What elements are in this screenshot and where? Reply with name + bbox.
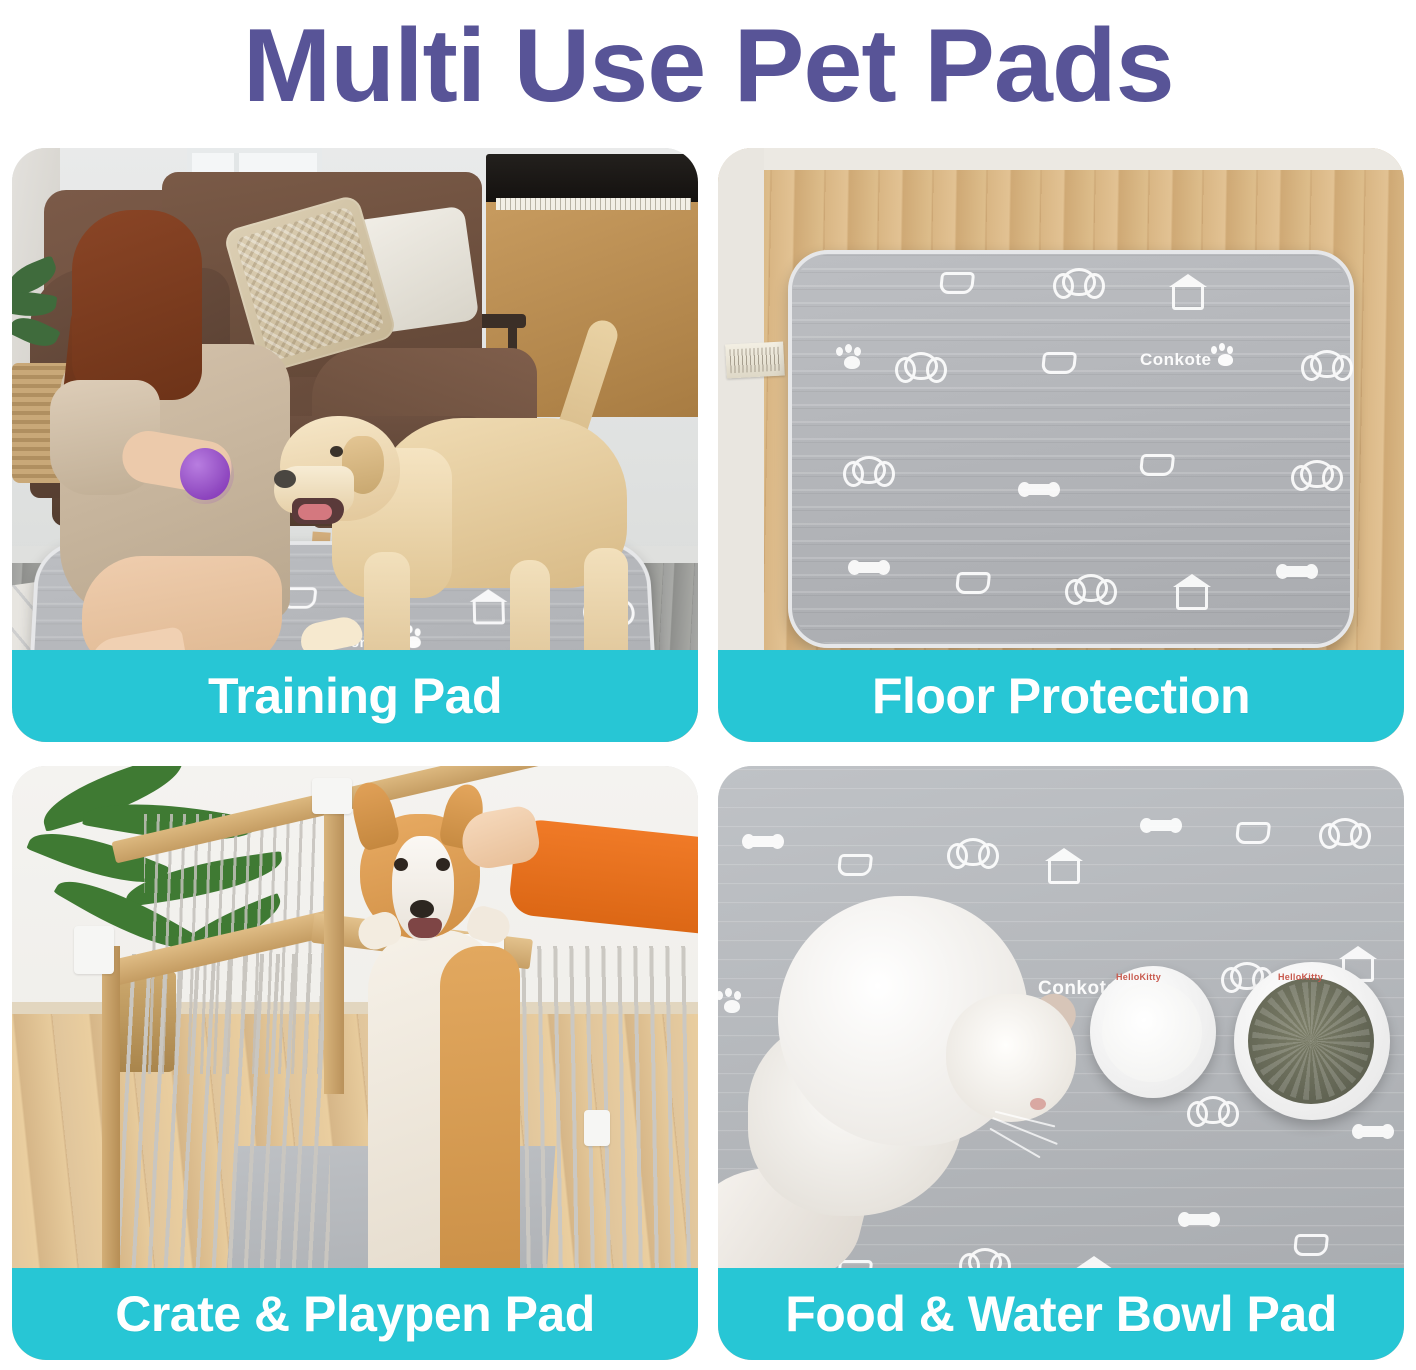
corgi-eye-left: [394, 858, 408, 871]
piano-keys: [496, 198, 691, 210]
caption-bar-food-water-bowl-pad: Food & Water Bowl Pad: [718, 1268, 1404, 1360]
caption-label: Crate & Playpen Pad: [115, 1289, 595, 1339]
motif-dog-face: [1062, 268, 1096, 296]
purple-dog-toy: [180, 448, 230, 500]
caption-bar-floor-protection: Floor Protection: [718, 650, 1404, 742]
motif-dog-face: [904, 352, 938, 380]
motif-dog-face: [852, 456, 886, 484]
motif-dog-face: [1300, 460, 1334, 488]
motif-food-bowl: [1139, 454, 1175, 476]
care-label-tag: [725, 342, 785, 379]
corgi-nose: [410, 900, 434, 918]
card-crate-playpen-pad[interactable]: Crate & Playpen Pad: [12, 766, 698, 1360]
motif-dog-face: [1310, 350, 1344, 378]
page-title: Multi Use Pet Pads: [243, 14, 1174, 118]
motif-paw-print: [724, 1000, 740, 1013]
motif-dog-house: [1048, 858, 1080, 884]
motif-dog-house: [1176, 584, 1208, 610]
dog-tongue: [298, 504, 332, 520]
girl-hair: [72, 210, 202, 400]
caption-label: Food & Water Bowl Pad: [785, 1289, 1337, 1339]
caption-label: Training Pad: [208, 671, 502, 721]
motif-dog-house: [473, 599, 505, 624]
cat-head: [946, 994, 1076, 1122]
motif-bone: [1184, 1214, 1214, 1225]
motif-dog-face: [956, 838, 990, 866]
card-floor-protection[interactable]: Conkote Floor Protection: [718, 148, 1404, 742]
motif-dog-face: [1196, 1096, 1230, 1124]
motif-dog-face: [1328, 818, 1362, 846]
motif-bone: [1358, 1126, 1388, 1137]
corgi-eye-right: [436, 858, 450, 871]
motif-bone: [1282, 566, 1312, 577]
brand-logo: Conkote: [1140, 350, 1233, 370]
motif-paw-print: [844, 356, 860, 369]
motif-food-bowl: [1235, 822, 1271, 844]
caption-bar-crate-playpen-pad: Crate & Playpen Pad: [12, 1268, 698, 1360]
bowl-label-water: HelloKitty: [1116, 972, 1161, 982]
food-bowl-contents: [1248, 978, 1374, 1104]
playpen-joint: [584, 1110, 610, 1146]
brand-name: Conkote: [1140, 350, 1212, 370]
playpen-joint: [74, 926, 114, 974]
card-training-pad[interactable]: Conkote: [12, 148, 698, 742]
motif-bone: [1146, 820, 1176, 831]
playpen-post-middle: [324, 794, 344, 1094]
motif-food-bowl: [955, 572, 991, 594]
motif-food-bowl: [1293, 1234, 1329, 1256]
caption-bar-training-pad: Training Pad: [12, 650, 698, 742]
table-edge-top: [718, 148, 1404, 170]
feature-grid: Conkote: [12, 148, 1404, 1360]
motif-bone: [748, 836, 778, 847]
motif-dog-house: [1172, 284, 1204, 310]
motif-food-bowl: [837, 854, 873, 876]
infographic-page: Multi Use Pet Pads: [0, 0, 1416, 1370]
water-bowl-milk: [1102, 982, 1202, 1082]
motif-bone: [854, 562, 884, 573]
dog-nose: [274, 470, 296, 488]
page-title-bar: Multi Use Pet Pads: [0, 0, 1416, 132]
motif-dog-face: [1074, 574, 1108, 602]
caption-label: Floor Protection: [872, 671, 1250, 721]
playpen-joint: [312, 778, 352, 814]
cat-nose: [1030, 1098, 1046, 1110]
piano-lid: [486, 154, 698, 202]
card-food-water-bowl-pad[interactable]: Conkote Conkote HelloKitty: [718, 766, 1404, 1360]
bowl-label-food: HelloKitty: [1278, 972, 1323, 982]
pet-pad-flat: Conkote: [788, 250, 1354, 648]
motif-bone: [1024, 484, 1054, 495]
motif-food-bowl: [1041, 352, 1077, 374]
motif-food-bowl: [939, 272, 975, 294]
dog-eye: [330, 446, 343, 457]
corgi-mouth: [408, 918, 442, 938]
paw-icon: [1218, 354, 1233, 366]
